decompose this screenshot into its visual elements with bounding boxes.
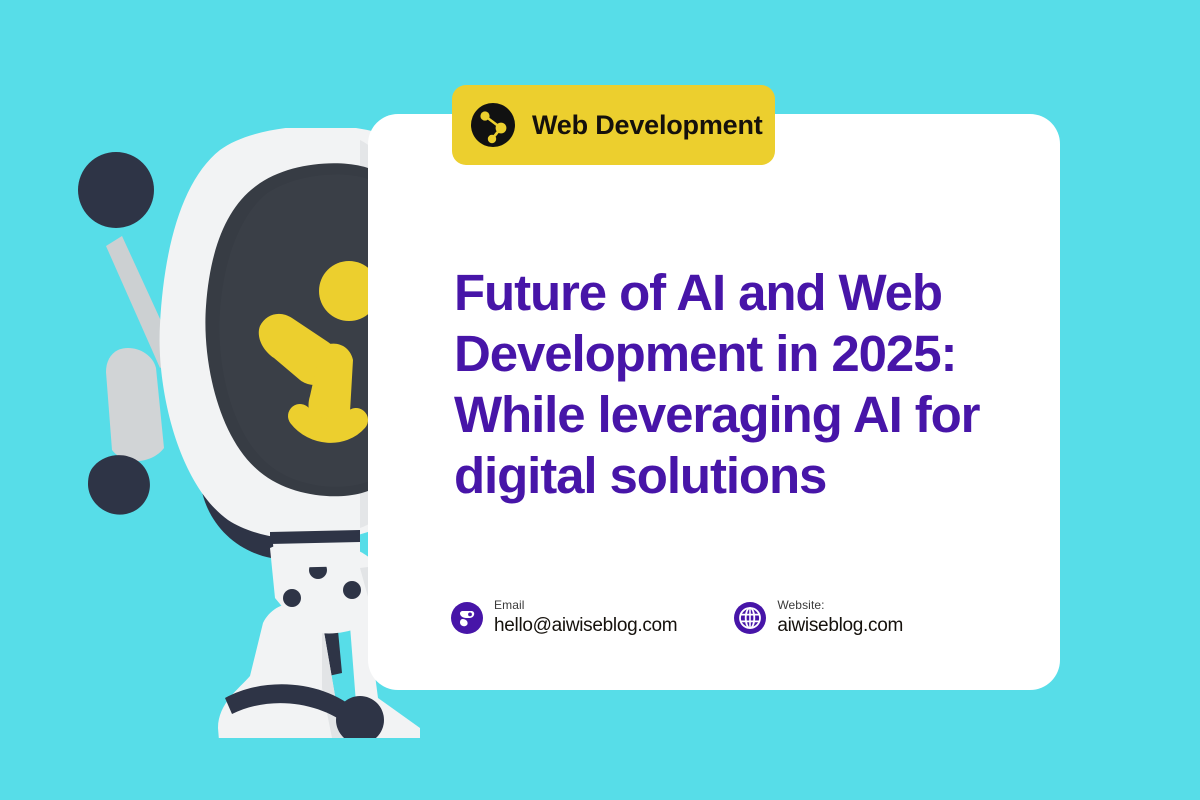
poster-canvas: Web Development Future of AI and Web Dev… (0, 0, 1200, 800)
contact-row: Email hello@aiwiseblog.com Website: aiwi… (450, 598, 903, 637)
email-icon (450, 601, 484, 635)
network-nodes-logo-icon (470, 102, 516, 148)
page-title: Future of AI and Web Development in 2025… (454, 262, 1034, 506)
contact-value-website[interactable]: aiwiseblog.com (777, 614, 903, 637)
contact-value-email[interactable]: hello@aiwiseblog.com (494, 614, 677, 637)
contact-item-email[interactable]: Email hello@aiwiseblog.com (450, 598, 677, 637)
contact-item-website[interactable]: Website: aiwiseblog.com (733, 598, 903, 637)
category-badge-label: Web Development (532, 110, 763, 141)
category-badge[interactable]: Web Development (452, 85, 775, 165)
robot-head (160, 128, 390, 568)
contact-label-website: Website: (777, 598, 903, 612)
contact-label-email: Email (494, 598, 677, 612)
globe-icon (733, 601, 767, 635)
